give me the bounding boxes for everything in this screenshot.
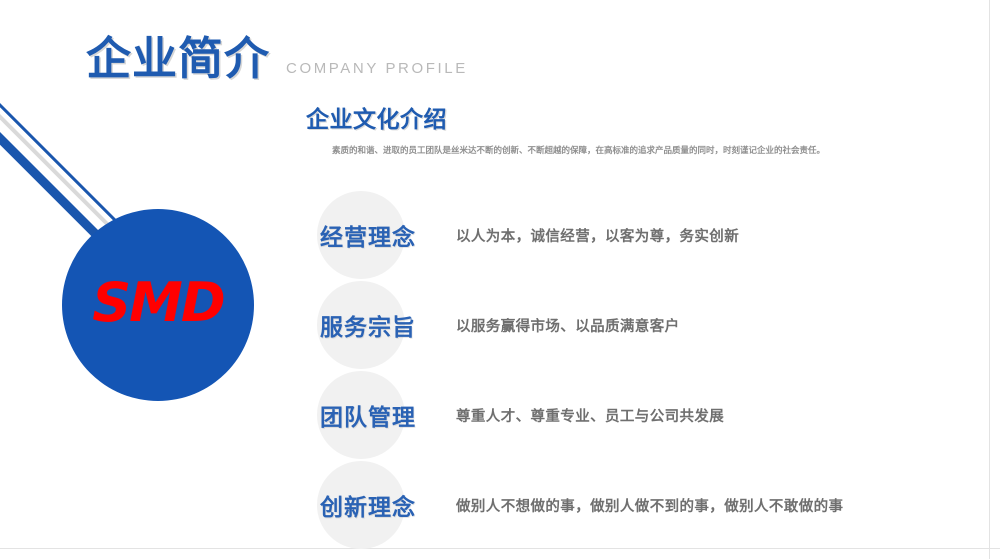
values-list: 经营理念 以人为本，诚信经营，以客为尊，务实创新 服务宗旨 以服务赢得市场、以品… [300,190,960,550]
page-title: 企业简介 [86,36,270,81]
culture-section: 企业文化介绍 素质的和谐、进取的员工团队是丝米达不断的创新、不断超越的保障，在高… [306,106,906,158]
slide-edge-line-right [989,0,990,559]
value-row: 服务宗旨 以服务赢得市场、以品质满意客户 [300,280,960,370]
value-row: 创新理念 做别人不想做的事，做别人做不到的事，做别人不敢做的事 [300,460,960,550]
value-label: 创新理念 [300,488,436,522]
slide-canvas: 企业简介 COMPANY PROFILE SMD 企业文化介绍 素质的和谐、进取… [0,0,1000,559]
value-row: 经营理念 以人为本，诚信经营，以客为尊，务实创新 [300,190,960,280]
page-header: 企业简介 COMPANY PROFILE [86,36,468,81]
company-logo-circle: SMD [62,209,254,401]
value-description: 做别人不想做的事，做别人做不到的事，做别人不敢做的事 [456,495,843,516]
value-label: 团队管理 [300,398,436,432]
value-label: 经营理念 [300,218,436,252]
culture-heading: 企业文化介绍 [306,106,906,134]
value-description: 以服务赢得市场、以品质满意客户 [456,315,680,336]
value-row: 团队管理 尊重人才、尊重专业、员工与公司共发展 [300,370,960,460]
company-logo-text: SMD [92,276,223,330]
value-description: 以人为本，诚信经营，以客为尊，务实创新 [456,225,739,246]
culture-body-text: 素质的和谐、进取的员工团队是丝米达不断的创新、不断超越的保障，在高标准的追求产品… [306,143,900,159]
page-subtitle: COMPANY PROFILE [286,60,468,77]
value-label: 服务宗旨 [300,308,436,342]
value-description: 尊重人才、尊重专业、员工与公司共发展 [456,405,724,426]
